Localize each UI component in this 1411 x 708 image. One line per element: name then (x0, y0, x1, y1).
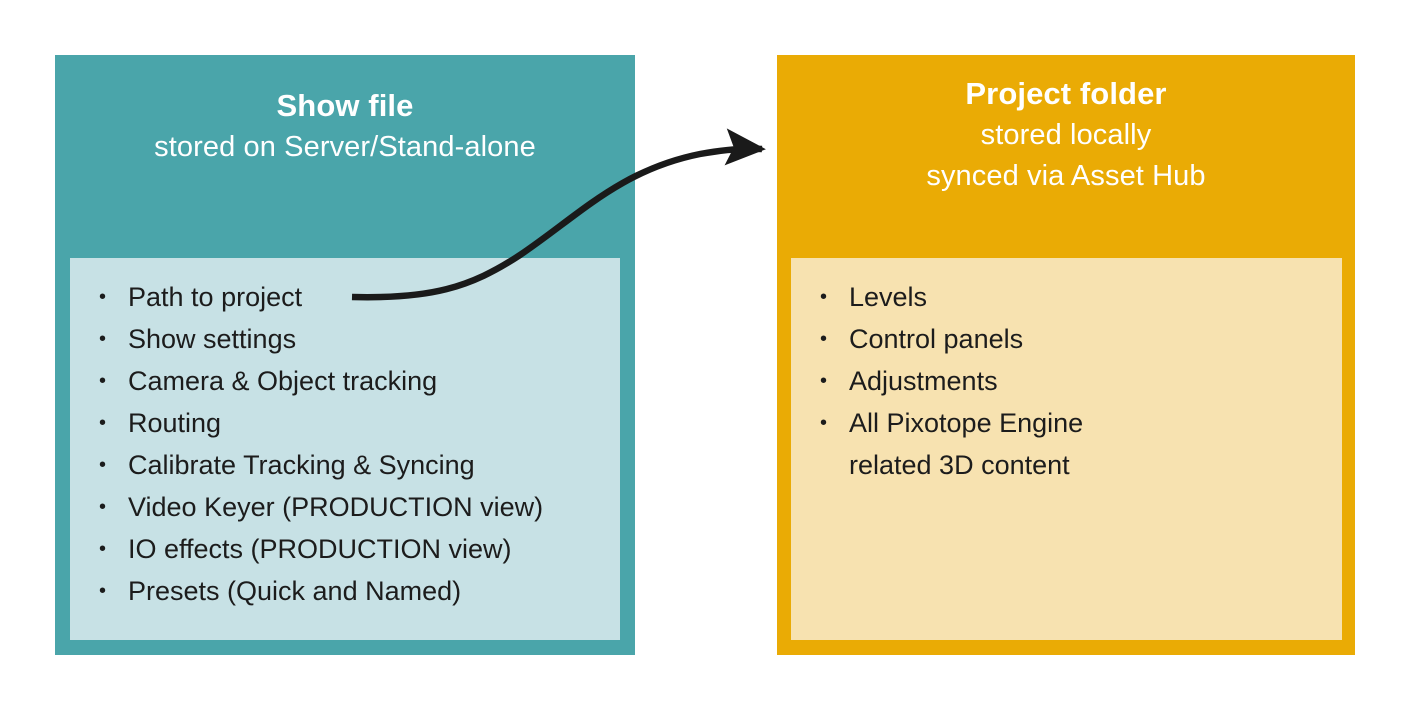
list-item: Show settings (92, 318, 614, 360)
list-item: IO effects (PRODUCTION view) (92, 528, 614, 570)
panel-project-folder-subtitle-line2: synced via Asset Hub (777, 156, 1355, 197)
list-item: Levels (813, 276, 1336, 318)
list-item: All Pixotope Engine related 3D content (813, 402, 1336, 486)
panel-show-file: Show file stored on Server/Stand-alone P… (55, 55, 635, 655)
show-file-bullet-list: Path to project Show settings Camera & O… (92, 276, 614, 612)
list-item: Camera & Object tracking (92, 360, 614, 402)
panel-show-file-header: Show file stored on Server/Stand-alone (55, 55, 635, 168)
panel-show-file-subtitle: stored on Server/Stand-alone (55, 127, 635, 168)
list-item: Presets (Quick and Named) (92, 570, 614, 612)
list-item: Routing (92, 402, 614, 444)
list-item: Calibrate Tracking & Syncing (92, 444, 614, 486)
panel-project-folder-body: Levels Control panels Adjustments All Pi… (791, 258, 1342, 640)
diagram-canvas: Show file stored on Server/Stand-alone P… (0, 0, 1411, 708)
list-item: Control panels (813, 318, 1336, 360)
panel-project-folder: Project folder stored locally synced via… (777, 55, 1355, 655)
panel-project-folder-title: Project folder (777, 73, 1355, 115)
panel-project-folder-header: Project folder stored locally synced via… (777, 55, 1355, 197)
panel-show-file-title: Show file (55, 85, 635, 127)
project-folder-bullet-list: Levels Control panels Adjustments All Pi… (813, 276, 1336, 486)
panel-project-folder-subtitle-line1: stored locally (777, 115, 1355, 156)
list-item: Video Keyer (PRODUCTION view) (92, 486, 614, 528)
panel-show-file-body: Path to project Show settings Camera & O… (70, 258, 620, 640)
list-item: Path to project (92, 276, 614, 318)
list-item: Adjustments (813, 360, 1336, 402)
